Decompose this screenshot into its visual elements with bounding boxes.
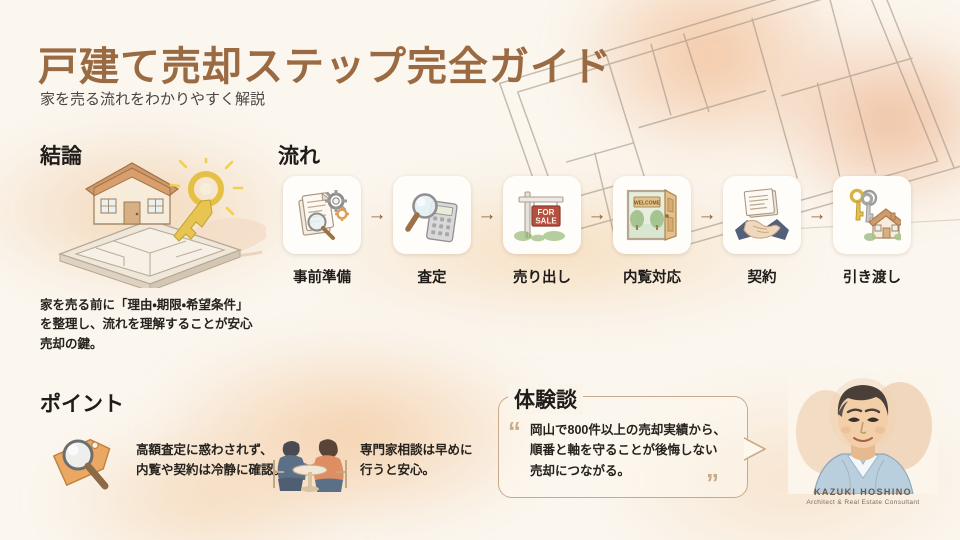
bubble-tail — [744, 436, 766, 462]
flow-step-label: 査定 — [418, 266, 447, 287]
flow-step-label: 売り出し — [513, 266, 571, 287]
point-item-2: 専門家相談は早めに 行うと安心。 — [266, 424, 473, 496]
flow-step-5[interactable]: 契約 — [723, 176, 801, 287]
consultation-table-icon — [266, 424, 352, 496]
page-title: 戸建て売却ステップ完全ガイド — [38, 34, 612, 92]
flow-step-card[interactable] — [723, 176, 801, 254]
flow-step-label: 事前準備 — [293, 266, 351, 287]
magnifier-calculator-icon — [403, 186, 461, 244]
flow-step-1[interactable]: 事前準備 — [283, 176, 361, 287]
flow-arrow: → — [801, 176, 833, 254]
flow-step-2[interactable]: 査定 — [393, 176, 471, 287]
flow-arrow: → — [361, 176, 393, 254]
flow-step-label: 内覧対応 — [623, 266, 681, 287]
quote-open-icon: “ — [508, 418, 521, 444]
section-heading-testimonial: 体験談 — [508, 384, 583, 414]
magnifier-price-tag-icon — [42, 424, 128, 496]
keys-house-icon — [843, 186, 901, 244]
flow-step-6[interactable]: 引き渡し — [833, 176, 911, 287]
point-item-1: 高額査定に惑わされず、 内覧や契約は冷静に確認。 — [42, 424, 286, 496]
flow-step-card[interactable] — [283, 176, 361, 254]
section-heading-flow: 流れ — [278, 140, 320, 170]
quote-close-icon: ” — [706, 470, 719, 496]
flow-arrow: → — [471, 176, 503, 254]
flow-step-label: 契約 — [748, 266, 777, 287]
author-portrait — [788, 374, 938, 494]
house-on-plan-with-key-illustration — [46, 158, 266, 288]
point-text: 高額査定に惑わされず、 内覧や契約は冷静に確認。 — [136, 440, 286, 480]
infographic-canvas: 戸建て売却ステップ完全ガイド 家を売る流れをわかりやすく解説 結論 — [0, 0, 960, 540]
for-sale-sign-icon: FOR SALE — [513, 186, 571, 244]
section-heading-points: ポイント — [40, 388, 124, 418]
welcome-text: WELCOME — [634, 201, 661, 207]
flow-step-card[interactable] — [833, 176, 911, 254]
page-subtitle: 家を売る流れをわかりやすく解説 — [40, 88, 265, 109]
testimonial-text: 岡山で800件以上の売却実績から、 順番と軸を守ることが後悔しない 売却につなが… — [530, 420, 735, 481]
flow-step-4[interactable]: WELCOME 内覧対応 — [613, 176, 691, 287]
for-sale-line-2: SALE — [535, 217, 557, 226]
flow-step-3[interactable]: FOR SALE 売り出し — [503, 176, 581, 287]
open-door-welcome-icon: WELCOME — [623, 186, 681, 244]
flow-arrow: → — [581, 176, 613, 254]
flow-arrow: → — [691, 176, 723, 254]
flow-steps: 事前準備 → — [283, 176, 911, 287]
author-name: KAZUKI HOSHINO — [788, 487, 938, 497]
author-role: Architect & Real Estate Consultant — [788, 499, 938, 506]
documents-gear-magnifier-icon — [293, 186, 351, 244]
point-text: 専門家相談は早めに 行うと安心。 — [360, 440, 473, 480]
flow-step-label: 引き渡し — [843, 266, 901, 287]
handshake-contract-icon — [733, 186, 791, 244]
flow-step-card[interactable]: WELCOME — [613, 176, 691, 254]
flow-step-card[interactable]: FOR SALE — [503, 176, 581, 254]
flow-step-card[interactable] — [393, 176, 471, 254]
conclusion-body-text: 家を売る前に「理由・期限・希望条件」を整理し、流れを理解することが安心売却の鍵。 — [40, 296, 255, 354]
